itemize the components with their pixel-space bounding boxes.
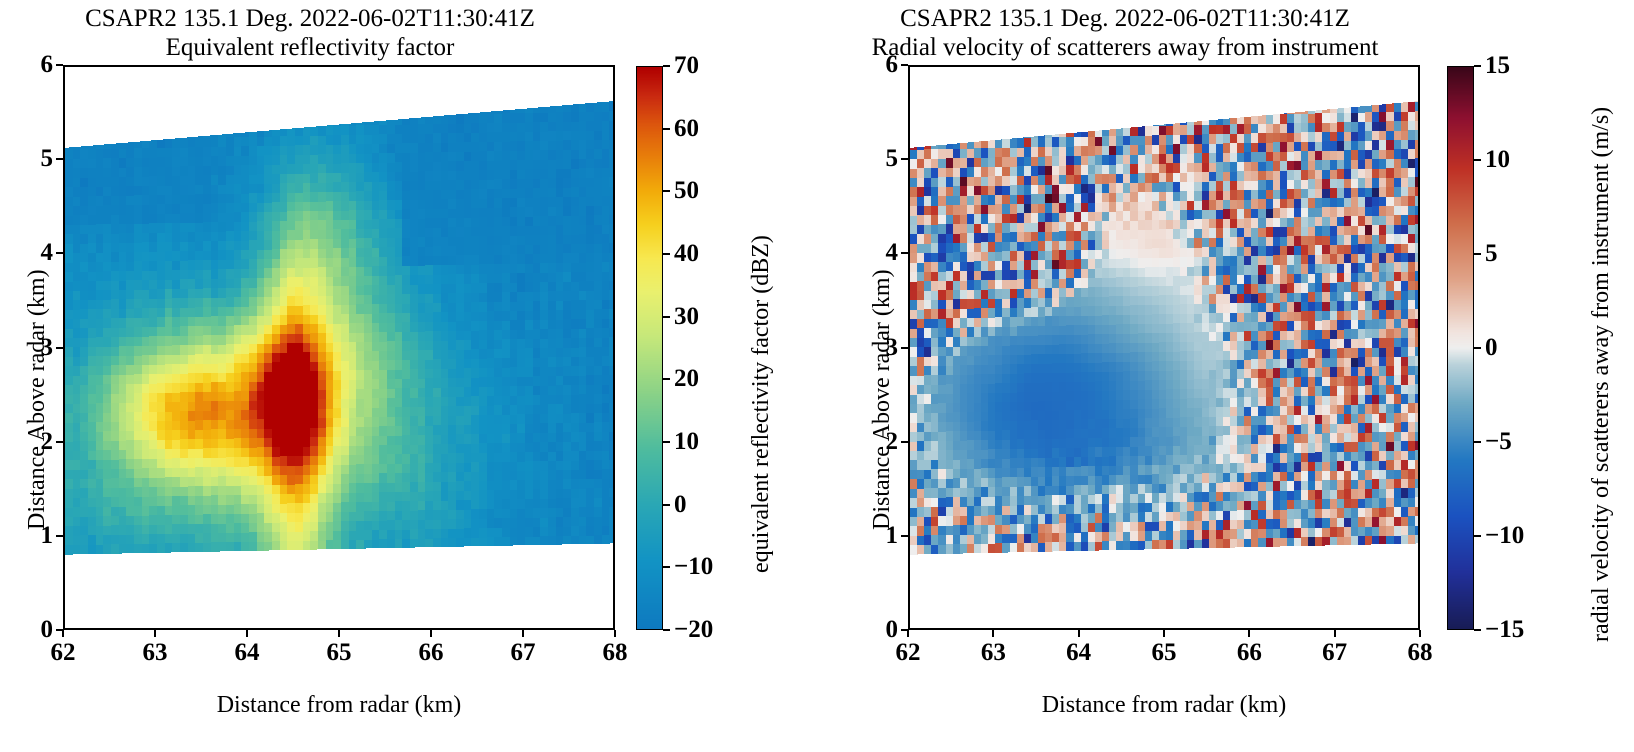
colorbar-tick-label: 15 xyxy=(1485,52,1510,80)
x-tick-mark xyxy=(154,630,156,637)
x-tick-mark xyxy=(1163,630,1165,637)
colorbar-tick-mark xyxy=(663,629,670,631)
y-tick-mark xyxy=(901,441,908,443)
x-tick-mark xyxy=(907,630,909,637)
x-tick-label: 65 xyxy=(327,639,352,667)
colorbar-tick-mark xyxy=(1474,253,1481,255)
velocity-heatmap-canvas xyxy=(910,65,1420,630)
y-tick-label: 0 xyxy=(870,616,898,644)
y-tick-mark xyxy=(56,629,63,631)
x-tick-mark xyxy=(1419,630,1421,637)
colorbar-tick-mark xyxy=(1474,441,1481,443)
y-tick-label: 5 xyxy=(25,145,53,173)
x-axis-label-velocity: Distance from radar (km) xyxy=(1042,692,1287,719)
reflectivity-heatmap-canvas xyxy=(65,65,615,630)
x-tick-mark xyxy=(614,630,616,637)
title-line-1: CSAPR2 135.1 Deg. 2022-06-02T11:30:41Z xyxy=(815,4,1435,33)
y-tick-label: 6 xyxy=(25,51,53,79)
y-axis-label-velocity: Distance Above radar (km) xyxy=(869,269,896,530)
colorbar-tick-label: −5 xyxy=(1485,428,1512,456)
colorbar-tick-mark xyxy=(663,190,670,192)
y-tick-mark xyxy=(56,252,63,254)
x-tick-label: 68 xyxy=(603,639,628,667)
x-tick-label: 64 xyxy=(235,639,260,667)
x-tick-label: 68 xyxy=(1408,639,1433,667)
x-tick-mark xyxy=(62,630,64,637)
radar-figure: CSAPR2 135.1 Deg. 2022-06-02T11:30:41Z E… xyxy=(0,0,1634,752)
y-tick-label: 5 xyxy=(870,145,898,173)
colorbar-tick-mark xyxy=(663,378,670,380)
colorbar-reflectivity xyxy=(636,66,663,630)
colorbar-tick-mark xyxy=(663,566,670,568)
y-tick-mark xyxy=(901,64,908,66)
colorbar-tick-mark xyxy=(663,65,670,67)
x-tick-mark xyxy=(522,630,524,637)
y-axis-label-reflectivity: Distance Above radar (km) xyxy=(24,269,51,530)
x-tick-mark xyxy=(430,630,432,637)
colorbar-tick-mark xyxy=(1474,159,1481,161)
plot-area-reflectivity[interactable] xyxy=(63,65,615,630)
panel-title-reflectivity: CSAPR2 135.1 Deg. 2022-06-02T11:30:41Z E… xyxy=(0,4,620,62)
x-tick-label: 67 xyxy=(511,639,536,667)
colorbar-tick-label: 20 xyxy=(674,365,699,393)
y-tick-mark xyxy=(901,629,908,631)
y-tick-label: 6 xyxy=(870,51,898,79)
x-tick-label: 63 xyxy=(143,639,168,667)
x-tick-mark xyxy=(992,630,994,637)
x-tick-label: 62 xyxy=(51,639,76,667)
x-tick-mark xyxy=(1078,630,1080,637)
colorbar-tick-label: −15 xyxy=(1485,616,1524,644)
axes-top-spine-left xyxy=(63,65,615,67)
colorbar-tick-label: 70 xyxy=(674,52,699,80)
axes-right-spine-right xyxy=(1418,65,1420,630)
colorbar-tick-mark xyxy=(663,441,670,443)
y-tick-mark xyxy=(56,158,63,160)
y-tick-mark xyxy=(901,347,908,349)
colorbar-label-velocity: radial velocity of scatterers away from … xyxy=(1588,107,1615,642)
x-tick-label: 64 xyxy=(1066,639,1091,667)
colorbar-velocity xyxy=(1447,66,1474,630)
x-tick-label: 62 xyxy=(896,639,921,667)
colorbar-tick-mark xyxy=(1474,535,1481,537)
colorbar-gradient-reflectivity xyxy=(637,67,662,629)
panel-title-velocity: CSAPR2 135.1 Deg. 2022-06-02T11:30:41Z R… xyxy=(815,4,1435,62)
y-tick-mark xyxy=(56,535,63,537)
colorbar-tick-mark xyxy=(663,253,670,255)
colorbar-tick-mark xyxy=(663,504,670,506)
y-tick-label: 0 xyxy=(25,616,53,644)
x-tick-mark xyxy=(1334,630,1336,637)
colorbar-tick-label: 0 xyxy=(674,491,687,519)
y-tick-mark xyxy=(901,535,908,537)
y-tick-mark xyxy=(901,252,908,254)
colorbar-tick-label: 30 xyxy=(674,303,699,331)
title-line-2: Radial velocity of scatterers away from … xyxy=(815,33,1435,62)
colorbar-tick-label: −10 xyxy=(1485,522,1524,550)
colorbar-tick-label: −10 xyxy=(674,553,713,581)
colorbar-tick-label: 60 xyxy=(674,115,699,143)
x-tick-label: 63 xyxy=(981,639,1006,667)
x-tick-label: 67 xyxy=(1322,639,1347,667)
colorbar-tick-label: 40 xyxy=(674,240,699,268)
colorbar-tick-mark xyxy=(663,316,670,318)
y-tick-label: 4 xyxy=(25,239,53,267)
colorbar-tick-label: 50 xyxy=(674,177,699,205)
title-line-1: CSAPR2 135.1 Deg. 2022-06-02T11:30:41Z xyxy=(0,4,620,33)
x-axis-label-reflectivity: Distance from radar (km) xyxy=(217,692,462,719)
colorbar-tick-label: −20 xyxy=(674,616,713,644)
x-tick-mark xyxy=(1248,630,1250,637)
y-tick-mark xyxy=(56,64,63,66)
x-tick-label: 65 xyxy=(1152,639,1177,667)
colorbar-tick-mark xyxy=(663,128,670,130)
colorbar-tick-mark xyxy=(1474,65,1481,67)
x-tick-label: 66 xyxy=(1237,639,1262,667)
axes-right-spine-left xyxy=(613,65,615,630)
plot-area-velocity[interactable] xyxy=(908,65,1420,630)
y-tick-mark xyxy=(901,158,908,160)
y-tick-mark xyxy=(56,441,63,443)
axes-top-spine-right xyxy=(908,65,1420,67)
title-line-2: Equivalent reflectivity factor xyxy=(0,33,620,62)
y-tick-label: 4 xyxy=(870,239,898,267)
y-tick-mark xyxy=(56,347,63,349)
colorbar-tick-label: 5 xyxy=(1485,240,1498,268)
colorbar-tick-mark xyxy=(1474,629,1481,631)
x-tick-mark xyxy=(246,630,248,637)
colorbar-tick-label: 10 xyxy=(674,428,699,456)
x-tick-label: 66 xyxy=(419,639,444,667)
colorbar-tick-label: 10 xyxy=(1485,146,1510,174)
colorbar-label-reflectivity: equivalent reflectivity factor (dBZ) xyxy=(748,235,775,573)
x-tick-mark xyxy=(338,630,340,637)
colorbar-tick-label: 0 xyxy=(1485,334,1498,362)
colorbar-gradient-velocity xyxy=(1448,67,1473,629)
colorbar-tick-mark xyxy=(1474,347,1481,349)
